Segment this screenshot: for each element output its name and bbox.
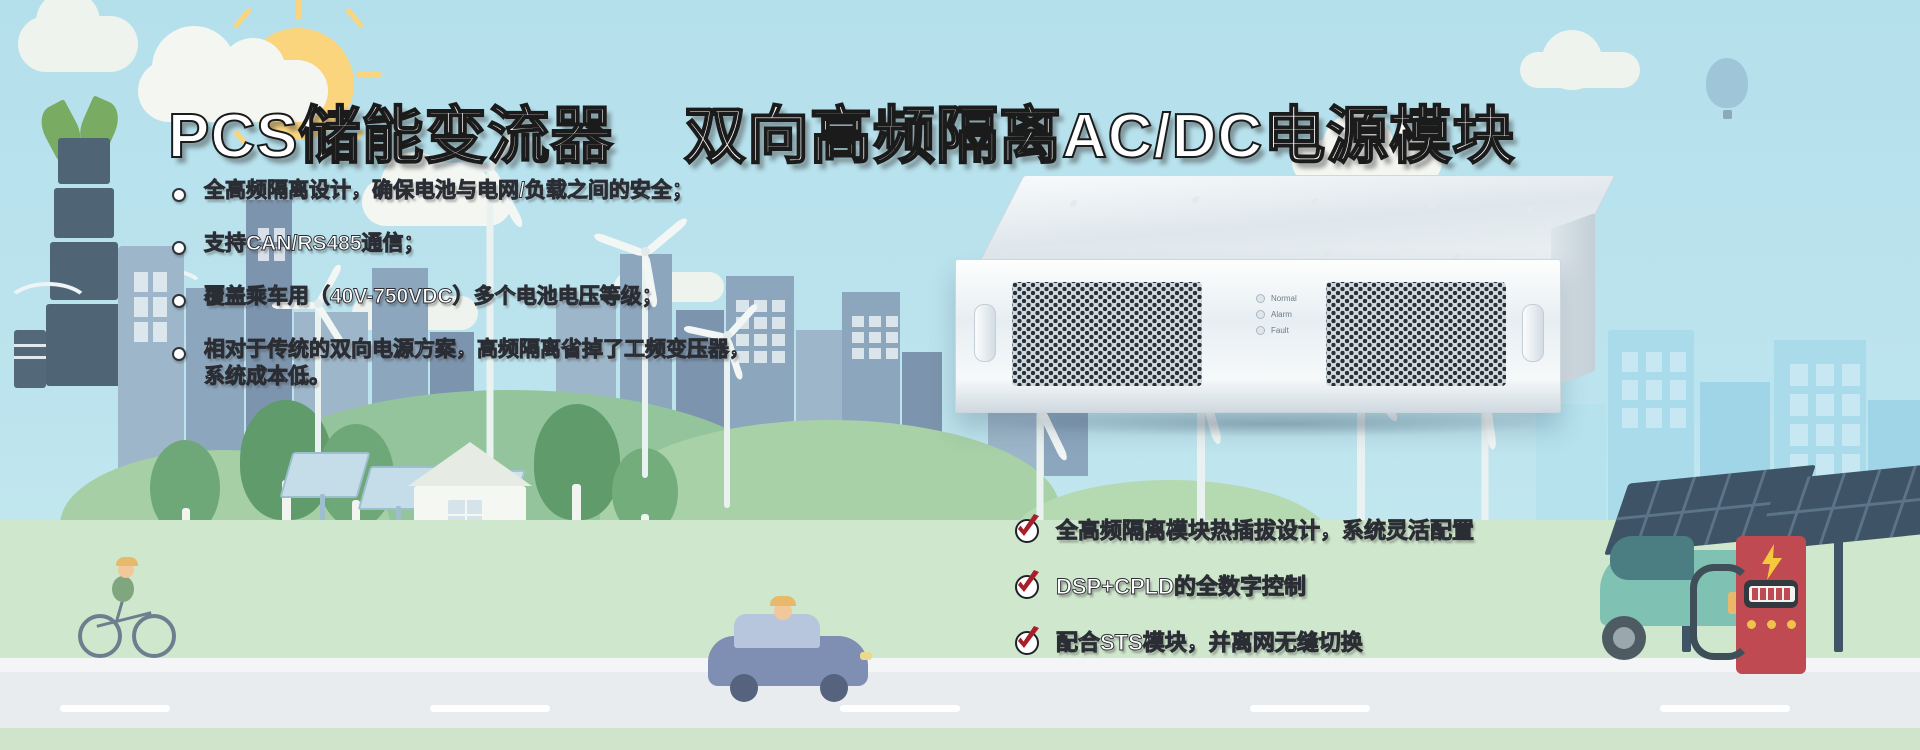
- list-item: 相对于传统的双向电源方案，高频隔离省掉了工频变压器，系统成本低。: [172, 337, 812, 391]
- hot-air-balloon-icon: [1706, 58, 1748, 108]
- led-row-fault: Fault: [1256, 326, 1297, 335]
- list-item: 支持CAN/RS485通信；: [172, 231, 812, 258]
- device-handle-right: [1522, 304, 1544, 362]
- highlight-text: DSP+CPLD的全数字控制: [1056, 574, 1306, 600]
- road-dash: [60, 705, 170, 712]
- highlight-text: 全高频隔离模块热插拔设计，系统灵活配置: [1056, 518, 1474, 544]
- check-circle-icon: [1012, 628, 1042, 658]
- road-edge: [0, 658, 1920, 672]
- feature-text: 全高频隔离设计，确保电池与电网/负载之间的安全；: [204, 178, 693, 205]
- device-shadow: [995, 411, 1555, 437]
- promo-banner: Normal Alarm Fault PCS储能变流器 双向高频隔离AC/DC电…: [0, 0, 1920, 750]
- device-status-leds: Normal Alarm Fault: [1256, 294, 1297, 342]
- road-dash: [840, 705, 960, 712]
- feature-list: 全高频隔离设计，确保电池与电网/负载之间的安全； 支持CAN/RS485通信； …: [172, 178, 812, 416]
- page-title: PCS储能变流器 双向高频隔离AC/DC电源模块: [168, 106, 1515, 168]
- lightning-bolt-icon: [1760, 544, 1784, 580]
- highlight-text: 配合STS模块，并离网无缝切换: [1056, 630, 1363, 656]
- battery-icon: [1749, 586, 1795, 602]
- bullet-dot-icon: [172, 347, 186, 361]
- list-item: 全高频隔离模块热插拔设计，系统灵活配置: [1012, 516, 1474, 546]
- led-label-alarm: Alarm: [1271, 310, 1292, 319]
- road-dash: [430, 705, 550, 712]
- highlight-list: 全高频隔离模块热插拔设计，系统灵活配置 DSP+CPLD的全数字控制 配合STS…: [1012, 516, 1474, 684]
- list-item: 配合STS模块，并离网无缝切换: [1012, 628, 1474, 658]
- led-label-fault: Fault: [1271, 326, 1289, 335]
- charging-cable: [1690, 564, 1752, 660]
- led-label-normal: Normal: [1271, 294, 1297, 303]
- road-dash: [1250, 705, 1370, 712]
- led-indicator-alarm: [1256, 310, 1265, 319]
- title-part-2: 双向高频隔离AC/DC电源模块: [684, 102, 1515, 171]
- device-front-panel: Normal Alarm Fault: [955, 259, 1561, 413]
- led-indicator-normal: [1256, 294, 1265, 303]
- feature-text: 覆盖乘车用（40V-750VDC）多个电池电压等级；: [204, 284, 663, 311]
- bullet-dot-icon: [172, 241, 186, 255]
- check-circle-icon: [1012, 516, 1042, 546]
- road-dash: [1660, 705, 1790, 712]
- led-row-normal: Normal: [1256, 294, 1297, 303]
- led-row-alarm: Alarm: [1256, 310, 1297, 319]
- bullet-dot-icon: [172, 294, 186, 308]
- device-vent-grille-right: [1326, 282, 1506, 386]
- road-verge: [0, 728, 1920, 750]
- check-circle-icon: [1012, 572, 1042, 602]
- title-part-1: PCS储能变流器: [168, 102, 613, 171]
- list-item: 覆盖乘车用（40V-750VDC）多个电池电压等级；: [172, 284, 812, 311]
- led-indicator-fault: [1256, 326, 1265, 335]
- bullet-dot-icon: [172, 188, 186, 202]
- list-item: 全高频隔离设计，确保电池与电网/负载之间的安全；: [172, 178, 812, 205]
- feature-text: 相对于传统的双向电源方案，高频隔离省掉了工频变压器，系统成本低。: [204, 337, 764, 391]
- feature-text: 支持CAN/RS485通信；: [204, 231, 425, 258]
- list-item: DSP+CPLD的全数字控制: [1012, 572, 1474, 602]
- device-handle-left: [974, 304, 996, 362]
- device-vent-grille-left: [1012, 282, 1202, 386]
- pcs-power-module: Normal Alarm Fault: [955, 175, 1595, 435]
